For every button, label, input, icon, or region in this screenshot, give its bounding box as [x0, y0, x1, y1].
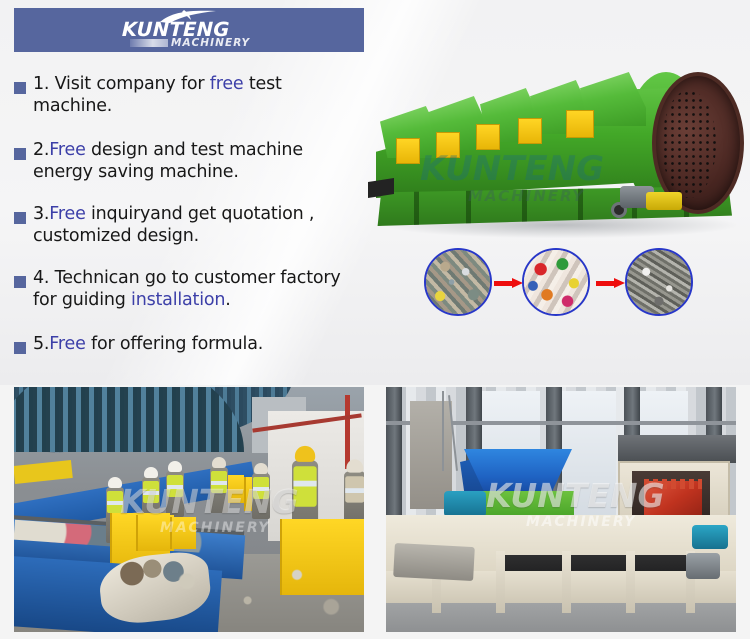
list-item: 5.Free for offering formula.	[14, 334, 314, 356]
yellow-access-panel	[518, 118, 542, 144]
process-arrow-icon	[596, 278, 626, 288]
mixed-waste-input	[424, 248, 492, 316]
discharge-belt	[393, 543, 475, 581]
feature-number: 4.	[33, 268, 49, 288]
square-bullet-icon	[14, 276, 26, 288]
hard-hat-icon	[212, 457, 226, 468]
perforated-screen-icon	[662, 90, 716, 198]
shredded-output-image	[627, 250, 691, 314]
list-item: 1. Visit company for free test machine.	[14, 74, 344, 118]
feature-text-5: 5.Free for offering formula.	[33, 334, 263, 356]
square-bullet-icon	[14, 342, 26, 354]
feature-part: .	[225, 290, 230, 310]
arched-roof	[14, 387, 244, 452]
upper-housing	[618, 435, 736, 463]
brand-tagline: MACHINERY	[171, 37, 250, 49]
brand-header-bar: KUNTENG MACHINERY	[14, 8, 364, 52]
brand-logo: KUNTENG MACHINERY	[122, 10, 252, 52]
process-arrow-icon	[494, 278, 524, 288]
floor-debris	[164, 562, 354, 626]
feature-highlight: free	[210, 74, 244, 94]
hard-hat-icon	[144, 467, 158, 478]
red-truss-post	[345, 395, 350, 469]
feature-highlight: Free	[49, 204, 85, 224]
feature-number: 5.	[33, 334, 49, 354]
feature-number: 1.	[33, 74, 49, 94]
feature-highlight: Free	[49, 334, 85, 354]
teal-motor	[692, 525, 728, 549]
teal-motor	[444, 491, 486, 517]
brand-tagline-row: MACHINERY	[130, 37, 254, 49]
process-flow-diagram	[420, 248, 702, 320]
gearbox	[646, 192, 682, 210]
feature-text-4: 4. Technican go to customer factory for …	[33, 268, 354, 312]
list-item: 4. Technican go to customer factory for …	[14, 268, 354, 312]
feature-part: for offering formula.	[86, 334, 263, 354]
hard-hat-icon	[108, 477, 122, 488]
sorted-recyclables-image	[524, 250, 588, 314]
yellow-bin	[170, 517, 196, 549]
feature-text-2: 2.Free design and test machine energy sa…	[33, 140, 360, 184]
yellow-bin	[136, 515, 174, 551]
feature-text-1: 1. Visit company for free test machine.	[33, 74, 344, 118]
waste-sorting-line-photo: KUNTENG MACHINERY	[14, 387, 364, 632]
rotor-teeth	[644, 479, 702, 489]
hard-hat-icon	[254, 463, 268, 474]
hard-hat-icon	[168, 461, 182, 472]
yellow-access-panel	[476, 124, 500, 150]
feature-number: 2.	[33, 140, 49, 160]
feature-text-3: 3.Free inquiryand get quotation , custom…	[33, 204, 362, 248]
yellow-access-panel	[396, 138, 420, 164]
square-bullet-icon	[14, 82, 26, 94]
square-bullet-icon	[14, 212, 26, 224]
feature-highlight: Free	[49, 140, 85, 160]
ladder	[442, 391, 444, 471]
list-item: 2.Free design and test machine energy sa…	[14, 140, 360, 184]
feature-highlight: installation	[131, 290, 225, 310]
sorted-recyclables	[522, 248, 590, 316]
list-item: 3.Free inquiryand get quotation , custom…	[14, 204, 362, 248]
logo-gradient-bar	[130, 39, 168, 47]
square-bullet-icon	[14, 148, 26, 160]
mixed-waste-image	[426, 250, 490, 314]
feature-list: 1. Visit company for free test machine. …	[14, 66, 366, 366]
shredded-output	[625, 248, 693, 316]
hard-hat-icon	[295, 446, 315, 462]
yellow-access-panel	[436, 132, 460, 158]
green-trommel-screen-machine: KUNTENG MACHINERY	[368, 34, 750, 264]
feature-part: Visit company for	[55, 74, 210, 94]
feature-number: 3.	[33, 204, 49, 224]
machine-drum-opening	[656, 76, 740, 210]
gear-motor	[686, 553, 720, 579]
shredder-conveyor-photo: KUNTENG MACHINERY	[386, 387, 736, 632]
hard-hat-icon	[346, 459, 363, 472]
machine-access-hoods	[380, 82, 650, 154]
yellow-access-panel	[566, 110, 594, 138]
